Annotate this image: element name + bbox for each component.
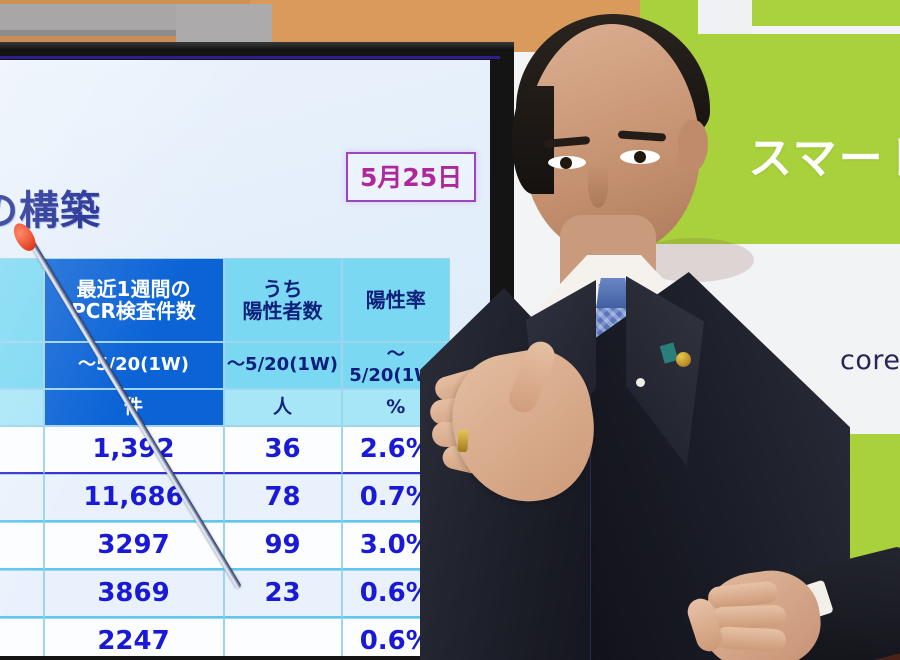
table-subheader-cell-0	[0, 342, 44, 389]
table-subheader-positive-period: ～5/20(1W)	[224, 342, 342, 389]
cell-label	[0, 426, 44, 474]
monitor-bezel-highlight	[0, 42, 514, 51]
table-header-cell-0	[0, 258, 44, 342]
pupil-left	[560, 157, 572, 169]
table-header-cell-pcr-count: 最近1週間の PCR検査件数	[44, 258, 224, 342]
cell-pcr-count: 2247	[44, 618, 224, 656]
cell-pcr-count: 3869	[44, 570, 224, 618]
cell-label	[0, 522, 44, 570]
header-rate-line1: 陽性率	[366, 289, 426, 311]
cell-positive-count: 23	[224, 570, 342, 618]
cell-pcr-count: 3297	[44, 522, 224, 570]
cell-label	[0, 474, 44, 522]
press-conference-scene: スマート core ート の構築 5月25日 最近1週間の PCR検査件数	[0, 0, 900, 660]
table-unit-cell-0	[0, 389, 44, 426]
header-pcr-line1: 最近1週間の	[71, 278, 196, 300]
necktie-knot	[596, 278, 630, 308]
header-positive-line1: うち	[243, 278, 323, 300]
lapel-pin-small-icon	[636, 378, 645, 387]
cell-positive-count: 78	[224, 474, 342, 522]
table-unit-positive: 人	[224, 389, 342, 426]
eye-right	[620, 150, 660, 164]
table-header-cell-positive-rate: 陽性率	[342, 258, 450, 342]
cell-pcr-count: 1,392	[44, 426, 224, 474]
eye-left	[548, 156, 586, 169]
table-header-row-period: ～5/20(1W) ～5/20(1W) ～5/20(1W)	[0, 342, 450, 389]
wedding-ring	[457, 430, 469, 453]
pupil-right	[634, 151, 646, 163]
header-positive-line2: 陽性者数	[243, 300, 323, 322]
table-subheader-pcr-period: ～5/20(1W)	[44, 342, 224, 389]
table-header-cell-positive-count: うち 陽性者数	[224, 258, 342, 342]
cell-label	[0, 570, 44, 618]
presentation-slide: の構築 5月25日 最近1週間の PCR検査件数 うち 陽性者数	[0, 60, 490, 656]
pcr-data-table: 最近1週間の PCR検査件数 うち 陽性者数 陽性率 ～5/20(1W)	[0, 258, 450, 656]
speaker-person	[440, 0, 900, 660]
finger	[715, 626, 786, 652]
table-row: 3869 23 0.6%	[0, 570, 450, 618]
cell-positive-count: 36	[224, 426, 342, 474]
cell-label	[0, 618, 44, 656]
finger	[712, 605, 787, 630]
monitor-inner-trim	[0, 56, 500, 59]
cell-positive-count: 99	[224, 522, 342, 570]
table-row: 1,392 36 2.6%	[0, 426, 450, 474]
lapel-pin-badge-icon	[676, 352, 691, 367]
table-row: 2247 0.6%	[0, 618, 450, 656]
table-header-row-units: 件 人 %	[0, 389, 450, 426]
table-row: 11,686 78 0.7%	[0, 474, 450, 522]
cell-positive-count	[224, 618, 342, 656]
ear	[678, 120, 708, 172]
header-pcr-line2: PCR検査件数	[71, 300, 196, 322]
nose	[588, 164, 608, 208]
